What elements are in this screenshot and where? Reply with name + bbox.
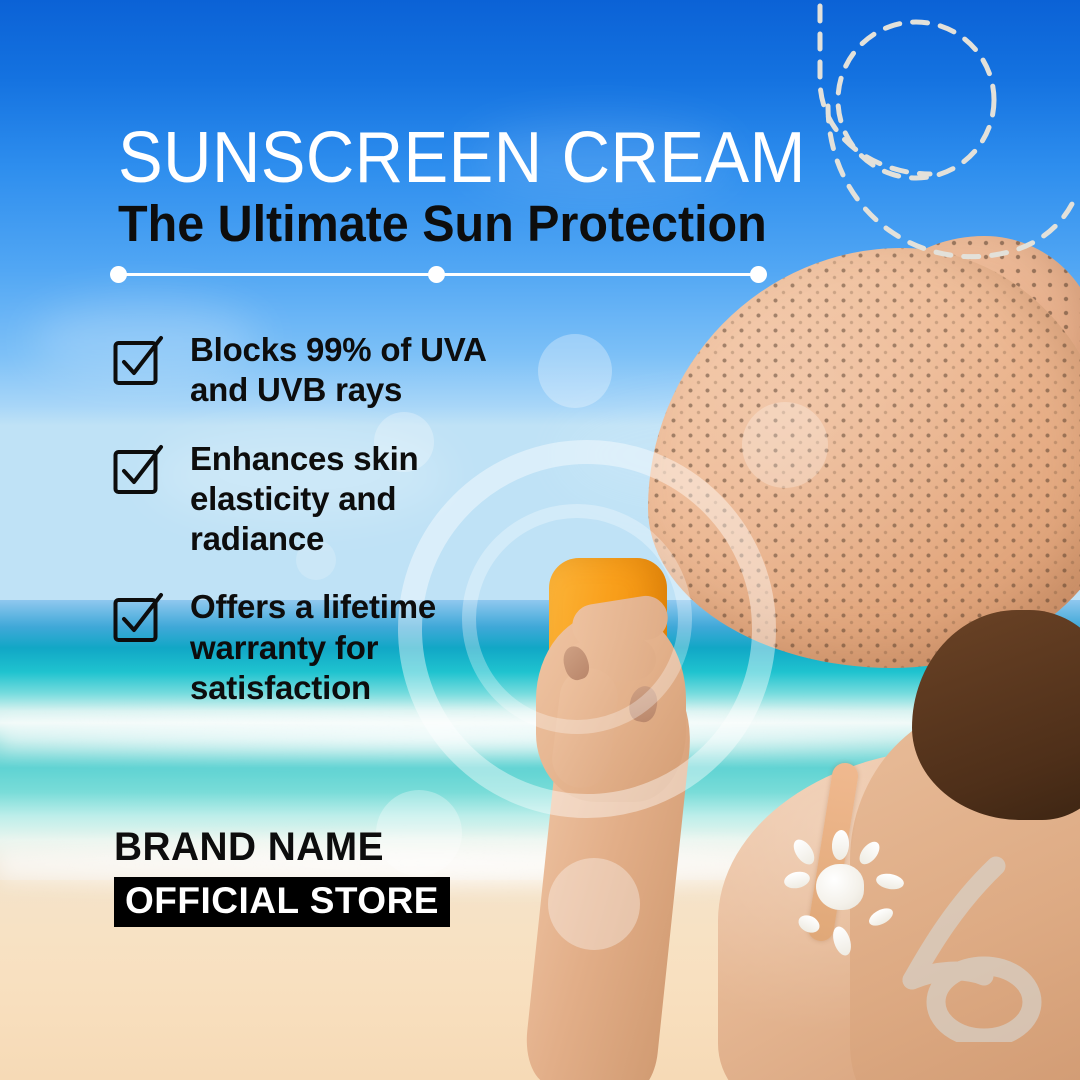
checkbox-checked-icon	[112, 334, 164, 386]
feature-list: Blocks 99% of UVA and UVB rays Enhances …	[112, 330, 532, 736]
divider-dot	[750, 266, 767, 283]
status-badge: OFFICIAL STORE	[114, 877, 450, 927]
divider-dot	[110, 266, 127, 283]
poster-content: SUNSCREEN CREAM The Ultimate Sun Protect…	[0, 0, 1080, 1080]
checkbox-checked-icon	[112, 591, 164, 643]
list-item-label: Enhances skin elasticity and radiance	[190, 439, 500, 560]
list-item: Blocks 99% of UVA and UVB rays	[112, 330, 532, 411]
divider-dot	[428, 266, 445, 283]
page-subtitle: The Ultimate Sun Protection	[118, 198, 767, 249]
list-item: Enhances skin elasticity and radiance	[112, 439, 532, 560]
brand-block: BRAND NAME OFFICIAL STORE	[114, 826, 414, 927]
list-item: Offers a lifetime warranty for satisfact…	[112, 587, 532, 708]
list-item-label: Offers a lifetime warranty for satisfact…	[190, 587, 500, 708]
divider	[110, 264, 770, 284]
page-title: SUNSCREEN CREAM	[118, 122, 806, 194]
checkbox-checked-icon	[112, 443, 164, 495]
sunscreen-ad-poster: SUNSCREEN CREAM The Ultimate Sun Protect…	[0, 0, 1080, 1080]
brand-name: BRAND NAME	[114, 826, 405, 868]
list-item-label: Blocks 99% of UVA and UVB rays	[190, 330, 500, 411]
